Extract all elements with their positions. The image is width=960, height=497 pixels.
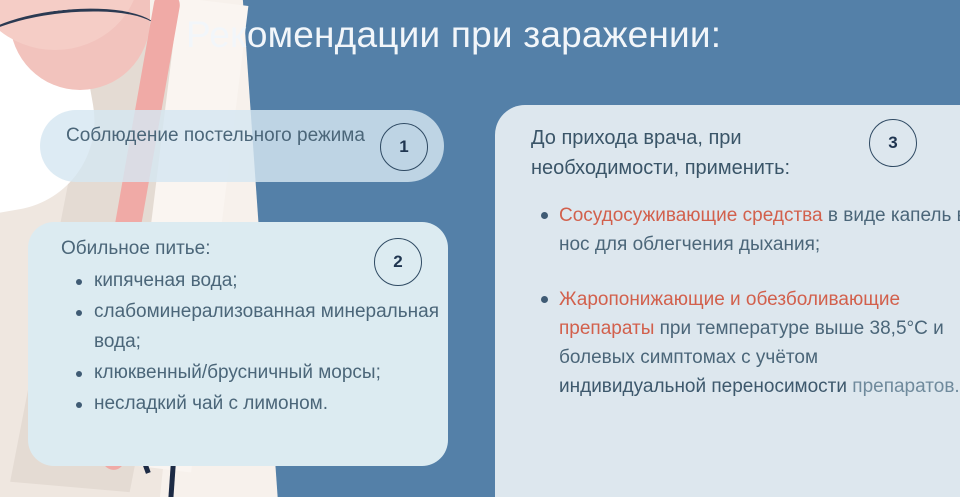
list-item-emphasis: индивидуальной переносимости: [559, 376, 847, 397]
card-drinking-heading: Обильное питье:: [61, 236, 211, 262]
card-before-doctor-heading: До прихода врача, при необходимости, при…: [531, 123, 876, 183]
card-before-doctor: До прихода врача, при необходимости, при…: [495, 105, 960, 497]
page-title: Рекомендации при заражении:: [186, 14, 721, 56]
list-item: клюквенный/брусничный морсы;: [94, 358, 464, 388]
medication-name-vasoconstrictors: Сосудосуживающие средства: [559, 205, 823, 226]
list-item: несладкий чай с лимоном.: [94, 389, 464, 419]
card-before-doctor-number: 3: [869, 119, 917, 167]
list-item: кипяченая вода;: [94, 266, 464, 296]
card-bed-rest-number: 1: [380, 123, 428, 171]
card-bed-rest-text: Соблюдение постельного режима: [66, 123, 396, 149]
card-bed-rest: Соблюдение постельного режима 1: [40, 110, 444, 182]
card-drinking: Обильное питье: 2 кипяченая вода; слабом…: [28, 222, 448, 466]
card-drinking-list: кипяченая вода; слабоминерализованная ми…: [64, 266, 464, 420]
list-item: слабоминерализованная минеральная вода;: [94, 297, 464, 357]
list-item: Сосудосуживающие средства в виде капель …: [559, 201, 960, 259]
card-before-doctor-list: Сосудосуживающие средства в виде капель …: [533, 201, 960, 401]
list-item-tail: препаратов.: [847, 376, 960, 397]
list-item: Жаропонижающие и обезболивающие препарат…: [559, 285, 960, 401]
infographic-slide: Рекомендации при заражении: Соблюдение п…: [0, 0, 960, 497]
